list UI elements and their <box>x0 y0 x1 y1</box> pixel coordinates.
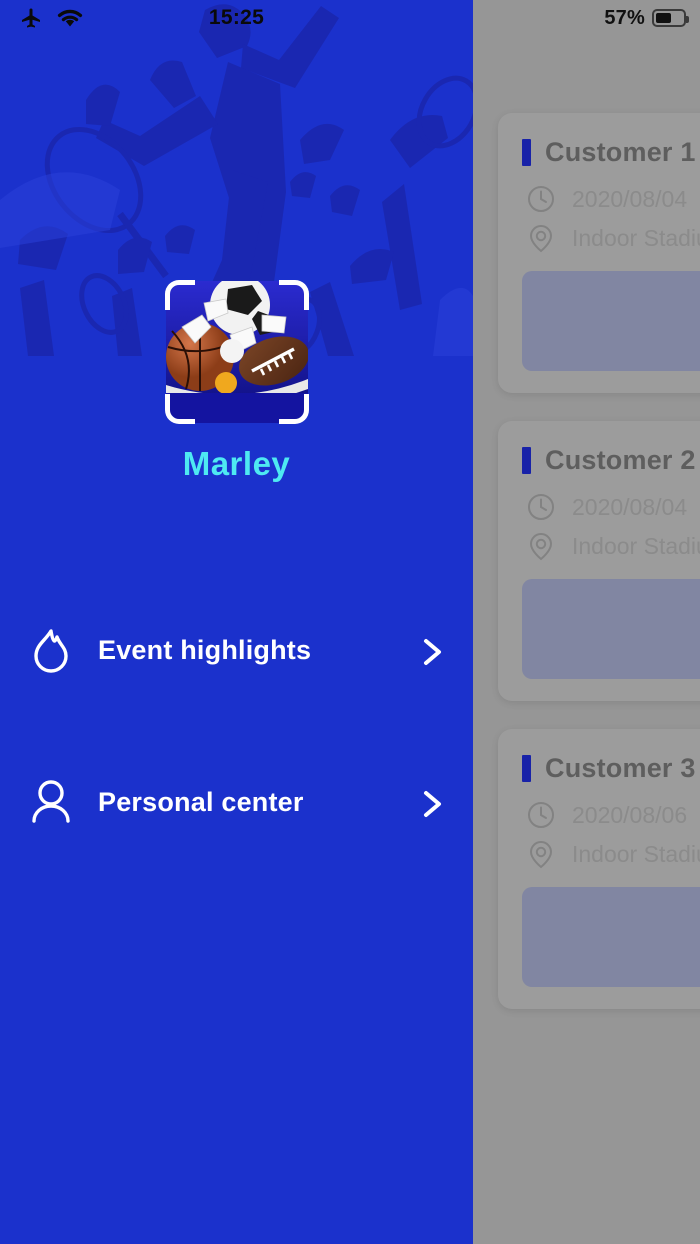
card-header: Customer 3 <box>522 753 700 784</box>
card-location: Indoor Stadium <box>572 225 700 252</box>
customer-card[interactable]: Customer 22020/08/04Indoor StadiumLevy <box>498 421 700 701</box>
card-accent-bar <box>522 447 531 474</box>
person-icon <box>30 779 76 825</box>
card-action-button[interactable]: jack <box>522 887 700 987</box>
card-date-row: 2020/08/04 <box>526 184 700 214</box>
card-date: 2020/08/06 <box>572 802 687 829</box>
card-accent-bar <box>522 139 531 166</box>
card-action-button[interactable]: Levy <box>522 579 700 679</box>
flame-icon <box>30 627 76 673</box>
drawer-status-bar: 15:25 <box>0 0 473 36</box>
card-location-row: Indoor Stadium <box>526 223 700 253</box>
card-location-row: Indoor Stadium <box>526 531 700 561</box>
battery-percent-label: 57% <box>604 7 645 30</box>
card-date: 2020/08/04 <box>572 494 687 521</box>
sidebar-item-label: Event highlights <box>98 635 419 666</box>
card-location-row: Indoor Stadium <box>526 839 700 869</box>
avatar[interactable] <box>166 281 308 423</box>
card-date-row: 2020/08/06 <box>526 800 700 830</box>
card-date-row: 2020/08/04 <box>526 492 700 522</box>
sidebar-item-personal-center[interactable]: Personal center <box>0 764 473 840</box>
customer-card[interactable]: Customer 32020/08/06Indoor Stadiumjack <box>498 729 700 1009</box>
chevron-right-icon <box>419 789 445 815</box>
location-pin-icon <box>526 839 556 869</box>
card-title: Customer 3 <box>545 753 696 784</box>
battery-icon <box>652 9 686 27</box>
card-title: Customer 2 <box>545 445 696 476</box>
card-date: 2020/08/04 <box>572 186 687 213</box>
avatar-corner-top-right <box>279 280 309 310</box>
status-bar-right: 57% <box>604 7 686 30</box>
card-title: Customer 1 <box>545 137 696 168</box>
location-pin-icon <box>526 223 556 253</box>
location-pin-icon <box>526 531 556 561</box>
clock-icon <box>526 184 556 214</box>
customer-card[interactable]: Customer 12020/08/04Indoor StadiumJim <box>498 113 700 393</box>
card-location: Indoor Stadium <box>572 533 700 560</box>
username-label: Marley <box>0 445 473 483</box>
navigation-drawer: 15:25 <box>0 0 473 1244</box>
avatar-corner-bottom-right <box>279 394 309 424</box>
avatar-corner-bottom-left <box>165 394 195 424</box>
clock-icon <box>526 492 556 522</box>
card-header: Customer 1 <box>522 137 700 168</box>
sidebar-item-event-highlights[interactable]: Event highlights <box>0 612 473 688</box>
status-bar-clock: 15:25 <box>0 6 473 30</box>
chevron-right-icon <box>419 637 445 663</box>
customer-card-list: Customer 12020/08/04Indoor StadiumJimCus… <box>498 113 700 1037</box>
drawer-menu: Event highlights Personal center <box>0 612 473 840</box>
card-action-button[interactable]: Jim <box>522 271 700 371</box>
card-header: Customer 2 <box>522 445 700 476</box>
avatar-corner-top-left <box>165 280 195 310</box>
card-location: Indoor Stadium <box>572 841 700 868</box>
card-accent-bar <box>522 755 531 782</box>
clock-icon <box>526 800 556 830</box>
sidebar-item-label: Personal center <box>98 787 419 818</box>
